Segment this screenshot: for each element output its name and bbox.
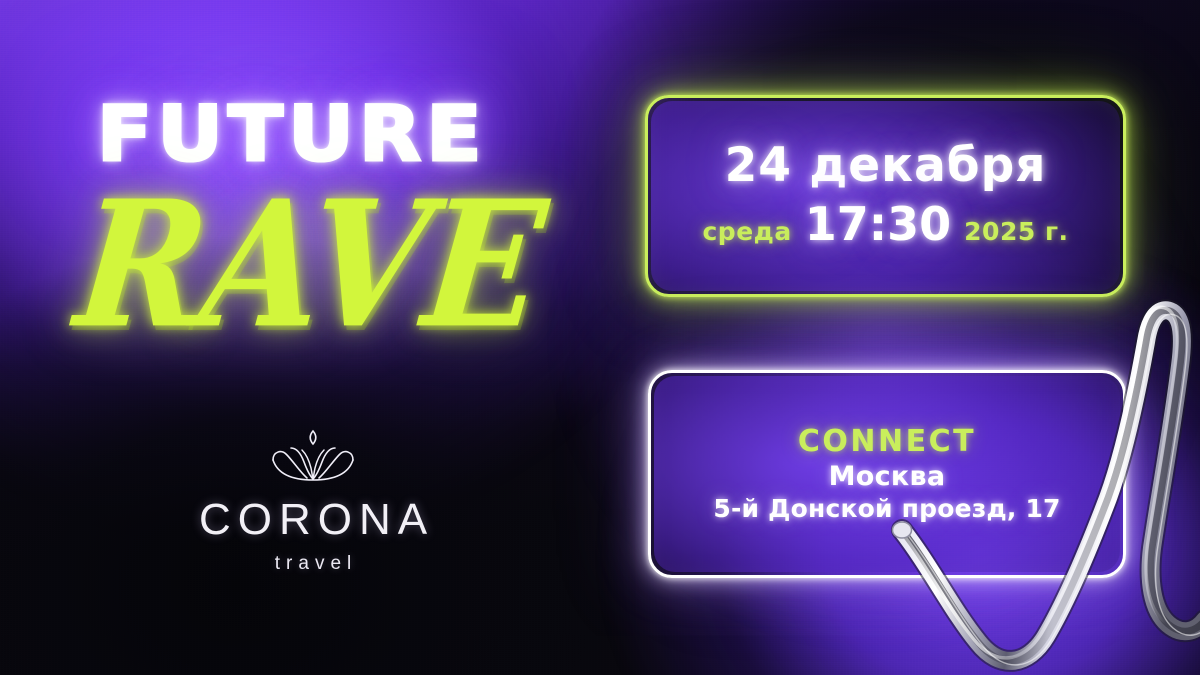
crown-lotus-icon: [267, 428, 359, 490]
title-rave: RAVE: [70, 178, 550, 352]
venue-box-content: CONNECT Москва 5-й Донской проезд, 17: [651, 425, 1123, 523]
logo-wordmark: CORONA: [183, 498, 443, 542]
venue-street: 5-й Донской проезд, 17: [651, 495, 1123, 523]
event-time-row: среда 17:30 2025 г.: [648, 197, 1123, 251]
venue-city: Москва: [651, 462, 1123, 492]
poster-canvas: FUTURE RAVE CORONA travel 24 декабря сре…: [0, 0, 1200, 675]
event-time: 17:30: [805, 197, 951, 251]
venue-name: CONNECT: [651, 425, 1123, 458]
corona-travel-logo: CORONA travel: [183, 428, 443, 573]
date-box-content: 24 декабря среда 17:30 2025 г.: [648, 141, 1123, 252]
event-year: 2025 г.: [964, 217, 1068, 246]
headline-block: FUTURE RAVE CORONA travel: [0, 0, 620, 675]
event-date: 24 декабря: [648, 141, 1123, 191]
logo-tagline: travel: [183, 554, 443, 573]
date-info-box: 24 декабря среда 17:30 2025 г.: [645, 95, 1126, 297]
title-future: FUTURE: [97, 96, 487, 172]
venue-info-box: CONNECT Москва 5-й Донской проезд, 17: [648, 370, 1126, 578]
event-weekday: среда: [702, 217, 791, 246]
